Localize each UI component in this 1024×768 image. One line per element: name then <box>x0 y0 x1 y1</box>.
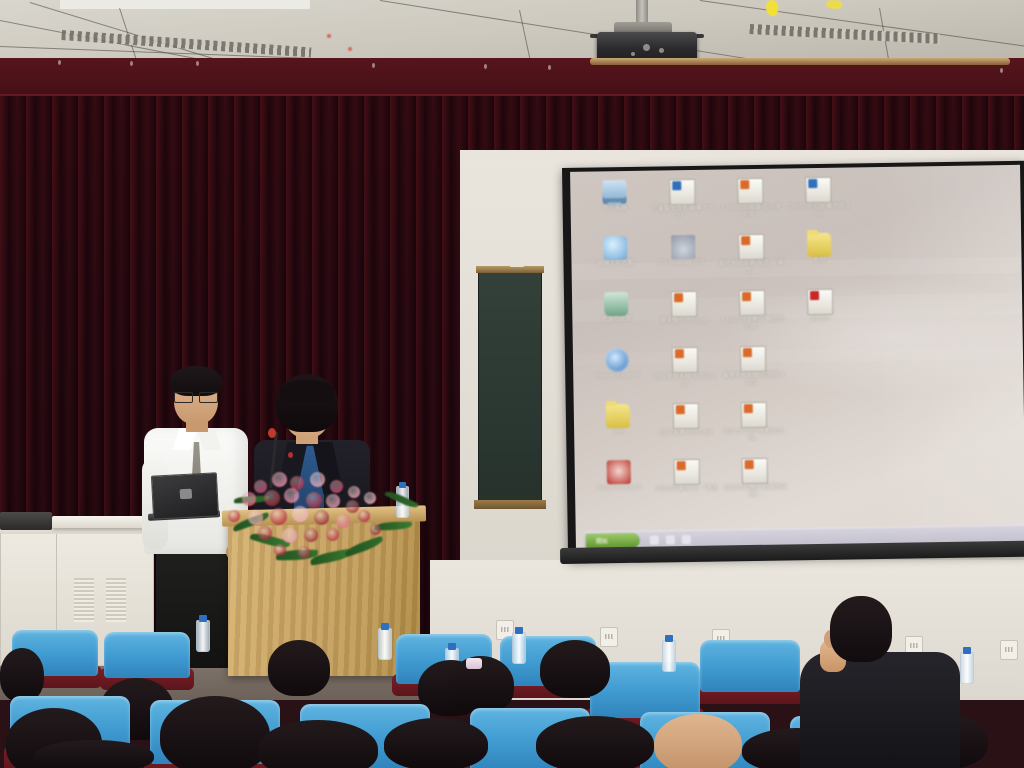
desktop-icon-label <box>788 397 856 398</box>
empty-slot <box>787 341 856 398</box>
recycle-bin-icon-glyph <box>604 292 628 316</box>
flower-blossom <box>248 510 263 525</box>
water-bottle-icon <box>960 652 974 684</box>
chalkboard-ledge <box>474 500 546 509</box>
desktop-icon-label: 我的電腦 <box>581 205 649 213</box>
recycle-bin-icon[interactable]: 資源回收筒 <box>582 289 651 346</box>
desktop-icon-label: Internet Explorer <box>583 373 651 381</box>
adobe-reader-icon[interactable]: Adobe Reader 9 <box>585 457 654 514</box>
lapel-microphone-icon <box>288 452 293 458</box>
desktop-icon-label: 四科會期末報 告2011.ppt <box>651 374 719 388</box>
desktop-icon-label: 查材 <box>785 257 853 265</box>
flower-blossom <box>274 544 286 556</box>
flower-blossom <box>310 472 325 487</box>
flower-blossom <box>314 510 329 525</box>
flower-blossom <box>326 528 339 541</box>
ppt-document-icon[interactable]: 四川演講 RCVS.ppt <box>652 400 721 457</box>
ceiling-light-strip <box>60 0 310 9</box>
audience-member-right <box>800 596 960 768</box>
attendee-head <box>268 640 330 696</box>
attendee-head <box>34 740 154 768</box>
attendee-head <box>536 716 654 768</box>
desktop-icon-label: pdf.pdf <box>786 315 854 323</box>
pdf-document-icon-glyph <box>807 289 833 315</box>
ppt-document-icon-glyph <box>674 459 700 485</box>
ppt-document-icon-glyph <box>738 234 764 260</box>
flower-blossom <box>282 528 297 543</box>
internet-explorer-icon-glyph <box>605 348 629 372</box>
flower-blossom <box>228 510 240 522</box>
flower-blossom <box>326 494 340 508</box>
ppt-document-icon[interactable]: 醫學系新制變 音課程-4122... <box>719 342 788 399</box>
folder-icon-glyph <box>807 233 831 257</box>
adobe-reader-icon-glyph <box>607 460 631 484</box>
chalkboard <box>478 272 542 506</box>
flower-blossom <box>336 514 350 528</box>
empty-slot <box>788 397 857 454</box>
internet-explorer-icon[interactable]: Internet Explorer <box>583 345 652 402</box>
attendee-head <box>160 696 270 768</box>
flower-blossom <box>284 488 299 503</box>
laptop-icon[interactable] <box>151 472 219 519</box>
flower-blossom <box>292 506 308 522</box>
ppt-document-icon-glyph <box>739 290 765 316</box>
hair-clip-icon <box>466 658 482 669</box>
folder-icon-glyph <box>606 404 630 428</box>
ppt-document-icon-glyph <box>671 291 697 317</box>
water-bottle-icon <box>196 620 210 652</box>
flower-blossom <box>346 500 359 513</box>
ppt-document-icon[interactable]: 配合相近中典 院直-「導生... <box>717 231 786 288</box>
start-button-label: 開始 <box>596 536 608 545</box>
desktop-icon-label: 1.101010下單三 醫四型 分課... <box>718 316 786 330</box>
flower-blossom <box>298 546 310 558</box>
word-document-icon[interactable]: 它東醫院浮生 報導-07633 ... <box>648 176 717 233</box>
desktop-icon-label: 121011自應保 相關地區團... <box>721 484 789 498</box>
flower-blossom <box>272 472 287 487</box>
projection-screen[interactable]: 我的電腦它東醫院浮生 報導-07633 ...7.1000122加等 在小場中頁… <box>562 161 1024 560</box>
flower-blossom <box>364 492 376 504</box>
water-bottle-icon <box>378 628 392 660</box>
word-document-icon[interactable]: CIH2-2研究計 畫內容.doc <box>784 173 853 230</box>
my-computer-icon[interactable]: 我的電腦 <box>580 177 649 234</box>
glasses-icon <box>174 392 218 401</box>
my-computer-icon-glyph <box>602 180 626 204</box>
desktop-icon-label <box>787 341 855 342</box>
ppt-document-icon-glyph <box>673 403 699 429</box>
flower-blossom <box>358 510 370 522</box>
presenter-hair-fringe <box>280 380 334 402</box>
palm-leaf <box>344 536 385 558</box>
quick-launch-icon[interactable] <box>666 535 675 544</box>
av-device <box>0 512 52 530</box>
ppt-document-icon[interactable]: 0空43中東院 第-「導生 <box>653 456 722 513</box>
auditorium-seat[interactable] <box>104 632 190 678</box>
flower-blossom <box>242 492 256 506</box>
desktop-icon-label: shef <box>584 429 652 437</box>
flower-blossom <box>264 490 280 506</box>
desktop-icon-label: 四川演講 RCVS.ppt <box>652 430 720 438</box>
flower-blossom <box>304 528 318 542</box>
quick-launch-icon[interactable] <box>650 536 659 545</box>
desktop-icon-label: 它東醫院浮生 報導-07633 ... <box>649 206 717 220</box>
yellow-decoration-icon <box>826 0 842 9</box>
water-bottle-icon <box>662 640 676 672</box>
desktop-icon-label: 7.1000122加等 在小場中頁... <box>717 205 785 219</box>
ppt-document-icon-glyph <box>742 458 768 484</box>
flower-blossom <box>306 492 322 508</box>
attendee-head <box>540 640 610 698</box>
ppt-document-icon[interactable]: 四科會期末報 告2011.ppt <box>651 344 720 401</box>
ppt-document-icon-glyph <box>741 402 767 428</box>
flower-blossom <box>370 524 381 535</box>
desktop-icon-label: 7ES-16.TM7 休養2012-04... <box>720 428 788 442</box>
desktop-icon-label: 醫學系新制變 音課程-4122... <box>719 372 787 386</box>
projection-screen-surface[interactable]: 我的電腦它東醫院浮生 報導-07633 ...7.1000122加等 在小場中頁… <box>570 165 1024 554</box>
curtain-hooks <box>0 60 1024 68</box>
word-document-icon-glyph <box>805 177 831 203</box>
flower-blossom <box>258 526 272 540</box>
desktop-icon-label: 0空43中東院 第-「導生 <box>653 486 721 494</box>
flower-blossom <box>348 486 360 498</box>
ppt-document-icon-glyph <box>740 346 766 372</box>
desktop-icon-label: 期末報告 2011.ppt <box>650 318 718 326</box>
attendee-head <box>384 718 488 768</box>
flower-blossom <box>330 480 343 493</box>
desktop-icon-grid[interactable]: 我的電腦它東醫院浮生 報導-07633 ...7.1000122加等 在小場中頁… <box>580 173 885 514</box>
folder-icon[interactable]: shef <box>584 401 653 458</box>
pdf-document-icon[interactable]: pdf.pdf <box>786 285 855 342</box>
desktop-icon-label: Adobe Reader 9 <box>585 485 653 493</box>
desktop-icon-label: CIH2-2研究計 畫內容.doc <box>785 203 853 217</box>
desktop-icon-label: 資源回收筒 <box>582 317 650 325</box>
auditorium-seat[interactable] <box>700 640 800 692</box>
water-bottle-icon <box>512 632 526 664</box>
attendee-head <box>0 648 44 702</box>
ppt-document-icon[interactable]: 1.101010下單三 醫四型 分課... <box>718 286 787 343</box>
ppt-document-icon-glyph <box>672 347 698 373</box>
laptop-brand-logo <box>180 489 193 500</box>
analysis-file-icon[interactable]: D II Analysis_201... <box>649 232 718 289</box>
attendee-head <box>830 596 892 662</box>
empty-slot <box>789 453 858 510</box>
network-neighborhood-icon[interactable]: 網路上的芳鄰 <box>581 233 650 290</box>
network-neighborhood-icon-glyph <box>603 236 627 260</box>
ppt-document-icon-glyph <box>737 178 763 204</box>
chalk-icon <box>510 264 524 267</box>
ppt-document-icon[interactable]: 121011自應保 相關地區團... <box>721 454 790 511</box>
attendee-head <box>654 714 742 768</box>
projected-desktop[interactable]: 我的電腦它東醫院浮生 報導-07633 ...7.1000122加等 在小場中頁… <box>580 173 885 514</box>
flower-blossom <box>254 480 267 493</box>
chalkboard-top-rail <box>476 266 544 273</box>
folder-icon[interactable]: 查材 <box>785 229 854 286</box>
ppt-document-icon[interactable]: 7ES-16.TM7 休養2012-04... <box>720 398 789 455</box>
word-document-icon-glyph <box>669 179 695 205</box>
flower-blossom <box>270 508 287 525</box>
desktop-icon-label <box>789 453 857 454</box>
yellow-decoration-icon <box>766 0 778 16</box>
palm-leaf <box>384 489 419 511</box>
presentation-hall-photo: 我的電腦它東醫院浮生 報導-07633 ...7.1000122加等 在小場中頁… <box>0 0 1024 768</box>
ppt-document-icon[interactable]: 期末報告 2011.ppt <box>650 288 719 345</box>
desktop-icon-label: 網路上的芳鄰 <box>581 261 649 269</box>
flower-arrangement <box>224 466 414 576</box>
desktop-icon-label: 配合相近中典 院直-「導生... <box>717 261 785 275</box>
ppt-document-icon[interactable]: 7.1000122加等 在小場中頁... <box>716 175 785 232</box>
microphone-icon <box>268 428 276 438</box>
analysis-file-icon-glyph <box>671 235 695 259</box>
desktop-icon-label: D II Analysis_201... <box>649 260 717 268</box>
quick-launch-icon[interactable] <box>682 535 691 544</box>
